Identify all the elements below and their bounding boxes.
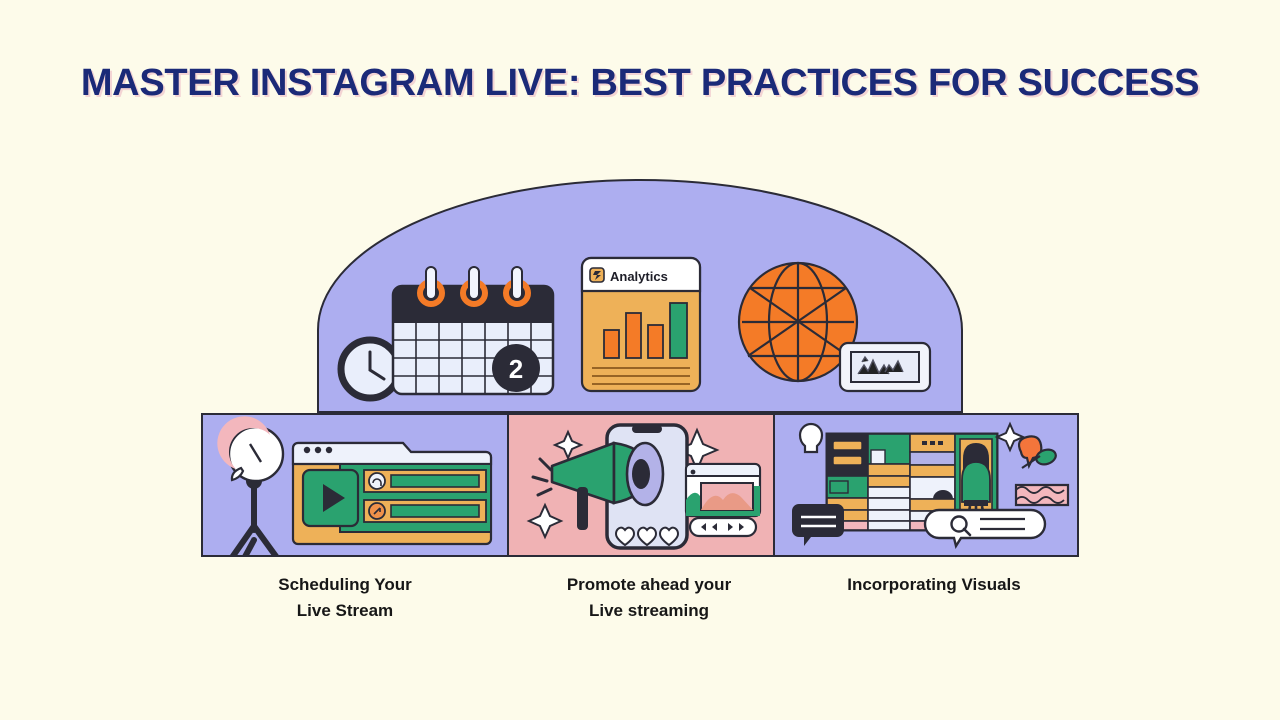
caption-line: Live streaming [508, 598, 790, 624]
caption-line: Live Stream [200, 598, 490, 624]
browser-window [293, 443, 491, 544]
heart-icon [616, 528, 678, 545]
image-card-icon [686, 464, 760, 516]
calendar-icon: 2 [393, 267, 553, 394]
panel-promote [508, 414, 774, 556]
slide-canvas: MASTER INSTAGRAM LIVE: BEST PRACTICES FO… [0, 0, 1280, 720]
wave-block-icon [1016, 485, 1068, 505]
caption-scheduling: Scheduling Your Live Stream [200, 572, 490, 624]
svg-text:Analytics: Analytics [610, 269, 668, 284]
clock-icon [341, 340, 399, 398]
list-item [364, 500, 486, 522]
analytics-card: Analytics [582, 258, 700, 391]
caption-line: Incorporating Visuals [790, 572, 1078, 598]
list-item [364, 470, 486, 492]
caption-line: Scheduling Your [200, 572, 490, 598]
caption-visuals: Incorporating Visuals [790, 572, 1078, 598]
panel-scheduling [202, 414, 508, 566]
calendar-day-badge: 2 [492, 344, 540, 392]
mini-screen-card [840, 343, 930, 391]
caption-promote: Promote ahead your Live streaming [508, 572, 790, 624]
panel-visuals [774, 414, 1078, 556]
caption-line: Promote ahead your [508, 572, 790, 598]
arch-panel: 2 Analytics [318, 180, 962, 412]
arrows-pill-icon [690, 518, 756, 536]
svg-text:2: 2 [509, 354, 523, 384]
